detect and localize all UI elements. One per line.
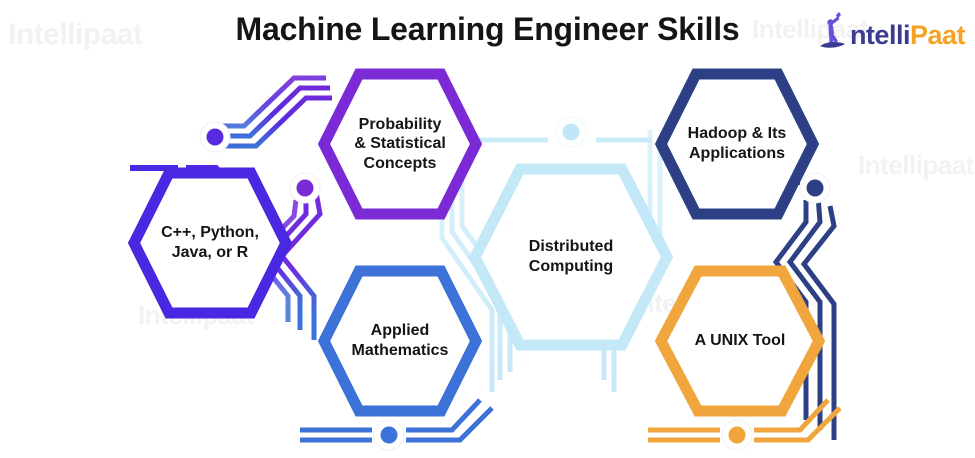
hexagon-label: A UNIX Tool <box>689 331 792 351</box>
hexagon-distributed-computing[interactable]: Distributed Computing <box>468 162 674 352</box>
hexagon-label: Probability & Statistical Concepts <box>348 115 452 174</box>
hexagon-unix-tool[interactable]: A UNIX Tool <box>655 265 825 417</box>
hexagon-label: Distributed Computing <box>523 237 619 276</box>
connector-node-top-center <box>556 117 586 147</box>
connector-node-left-lower <box>290 173 320 203</box>
wire-left-upper <box>216 78 332 146</box>
hexagon-label: C++, Python, Java, or R <box>155 223 265 262</box>
connector-node-bottom-unix <box>722 420 752 450</box>
hexagon-hadoop-applications[interactable]: Hadoop & Its Applications <box>655 68 819 220</box>
hexagon-probability-statistics[interactable]: Probability & Statistical Concepts <box>318 68 482 220</box>
hexagon-label: Hadoop & Its Applications <box>682 124 793 163</box>
infographic-canvas: Intellipaat Intellipaat Intellipaat Inte… <box>0 0 975 458</box>
hexagon-applied-mathematics[interactable]: Applied Mathematics <box>318 265 482 417</box>
connector-node-left-upper <box>200 122 230 152</box>
hexagon-programming-languages[interactable]: C++, Python, Java, or R <box>128 167 292 319</box>
hexagon-label: Applied Mathematics <box>346 321 455 360</box>
connector-node-bottom-math <box>374 420 404 450</box>
